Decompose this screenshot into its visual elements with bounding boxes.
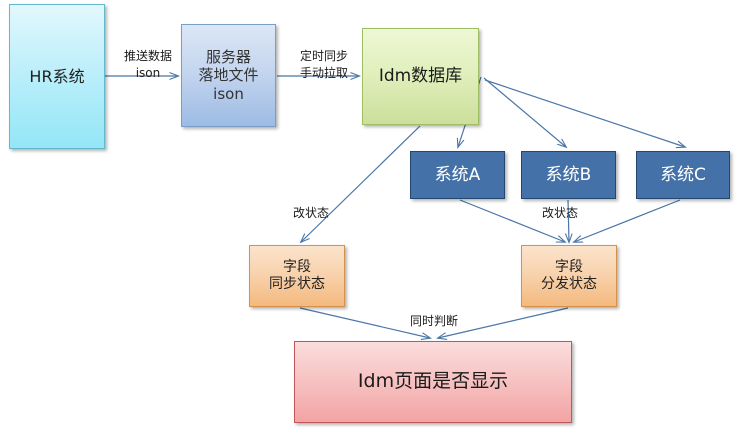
node-hr-system[interactable]: HR系统 xyxy=(9,4,105,149)
edge-label-change-state-dist: 改状态 xyxy=(532,205,588,222)
node-field-dist-status[interactable]: 字段 分发状态 xyxy=(521,245,617,307)
node-result-idm-page-visible[interactable]: Idm页面是否显示 xyxy=(294,341,572,423)
node-system-c[interactable]: 系统C xyxy=(636,151,730,199)
node-system-b[interactable]: 系统B xyxy=(521,151,616,199)
node-server-file[interactable]: 服务器 落地文件 ison xyxy=(181,24,276,127)
node-field-sync-status-label: 字段 同步状态 xyxy=(269,259,325,293)
edge-label-change-state-sync: 改状态 xyxy=(283,205,339,222)
edge-label-scheduled-sync: 定时同步 手动拉取 xyxy=(288,48,360,83)
node-server-file-label: 服务器 落地文件 ison xyxy=(198,48,258,103)
edge-idm-to-field-sync xyxy=(301,126,420,242)
node-field-sync-status[interactable]: 字段 同步状态 xyxy=(249,245,345,307)
node-result-idm-page-visible-label: Idm页面是否显示 xyxy=(358,370,508,393)
node-system-a-label: 系统A xyxy=(435,165,481,186)
node-hr-system-label: HR系统 xyxy=(29,67,84,87)
node-system-c-label: 系统C xyxy=(660,165,706,186)
edge-idm-to-systemb xyxy=(484,78,566,147)
node-system-b-label: 系统B xyxy=(546,165,592,186)
edge-label-push-data: 推送数据 ison xyxy=(112,48,184,83)
edge-label-simultaneous-judgement: 同时判断 xyxy=(394,313,474,330)
node-idm-database-label: Idm数据库 xyxy=(379,66,462,87)
node-idm-database[interactable]: Idm数据库 xyxy=(362,28,479,125)
node-system-a[interactable]: 系统A xyxy=(410,151,505,199)
edge-idm-to-systemc xyxy=(485,80,685,147)
node-field-dist-status-label: 字段 分发状态 xyxy=(541,259,597,293)
edge-systemc-to-field-dist xyxy=(574,200,680,242)
diagram-canvas: HR系统 服务器 落地文件 ison Idm数据库 系统A 系统B 系统C 字段… xyxy=(0,0,742,437)
